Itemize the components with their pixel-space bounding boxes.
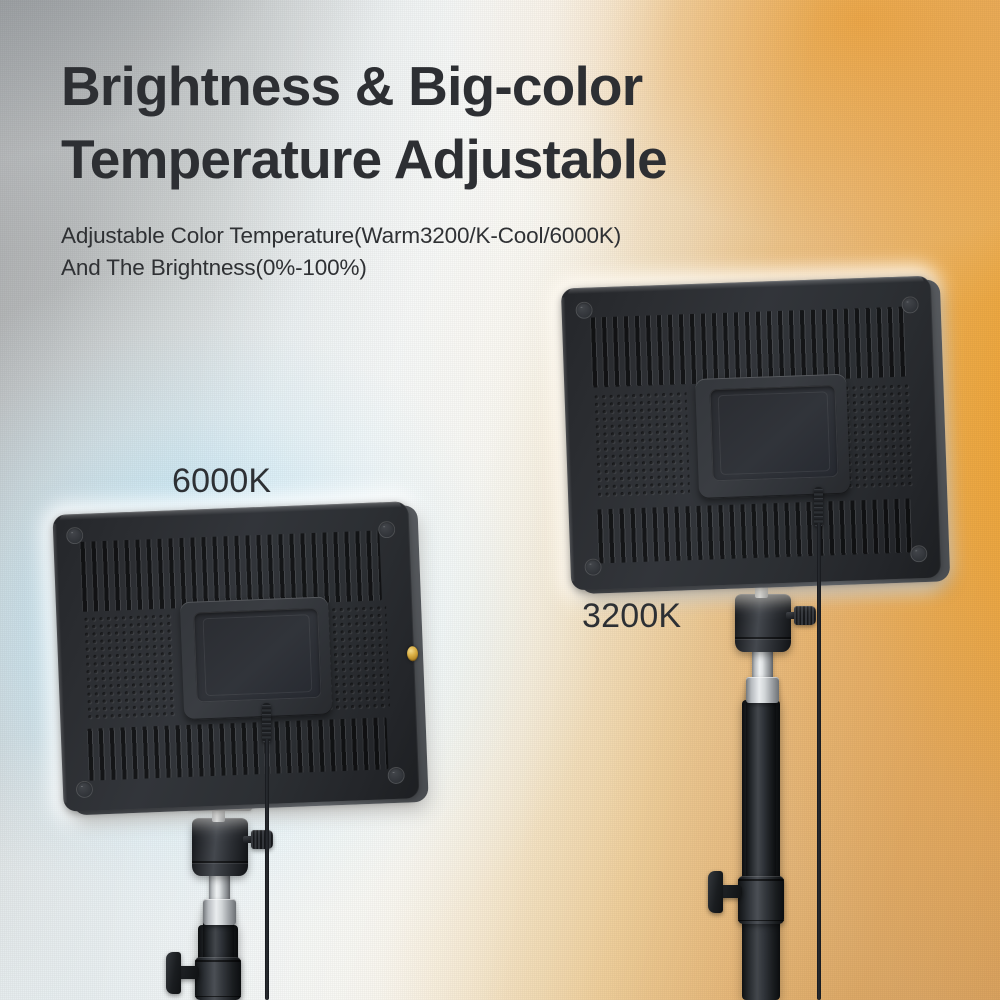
cool-panel-cable <box>265 739 269 1000</box>
banner-stage: Brightness & Big-color Temperature Adjus… <box>0 0 1000 1000</box>
page-title-line-2: Temperature Adjustable <box>61 123 921 196</box>
cool-panel-vents-bottom <box>87 717 389 780</box>
cool-ball-head-knob[interactable] <box>251 830 273 849</box>
cool-tripod-chrome-collar <box>203 899 236 925</box>
cool-panel-strain-relief <box>262 703 271 743</box>
cool-panel-center-housing <box>180 596 332 720</box>
page-subtitle-line-2: And The Brightness(0%-100%) <box>61 252 781 284</box>
cool-panel-screw-top-right <box>378 521 396 539</box>
cool-panel-screw-bottom-right <box>387 767 405 785</box>
cool-panel <box>52 501 419 811</box>
cool-tripod-lock-collar[interactable] <box>195 957 241 1000</box>
label-3200k: 3200K <box>582 597 681 636</box>
cool-panel-screw-bottom-left <box>76 781 94 799</box>
cool-panel-dimples-left <box>84 614 176 719</box>
label-6000k: 6000K <box>172 462 271 501</box>
cool-panel-center-recess <box>194 607 322 703</box>
cool-panel-back-face <box>52 501 419 811</box>
cool-ball-head[interactable] <box>192 818 248 876</box>
cool-tripod-lock-knob-head[interactable] <box>166 952 181 994</box>
page-title: Brightness & Big-color Temperature Adjus… <box>61 50 921 196</box>
page-title-line-1: Brightness & Big-color <box>61 50 921 123</box>
page-subtitle-line-1: Adjustable Color Temperature(Warm3200/K-… <box>61 220 781 252</box>
page-subtitle: Adjustable Color Temperature(Warm3200/K-… <box>61 220 781 284</box>
